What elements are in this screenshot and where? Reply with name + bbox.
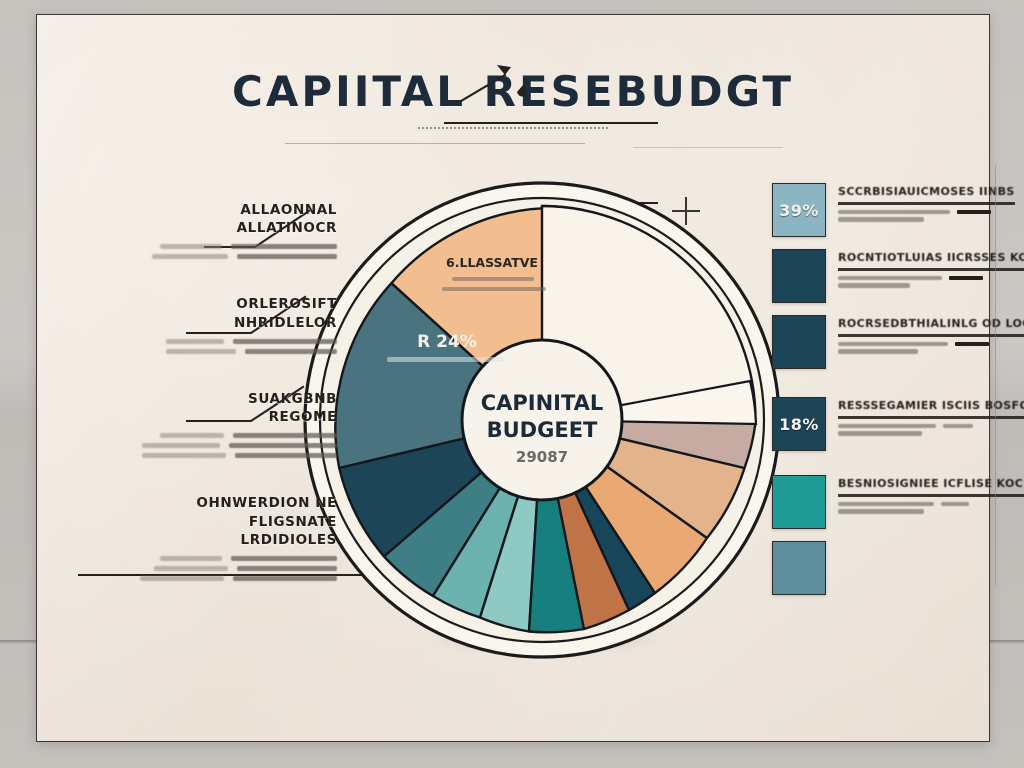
callout-title-line1: SUAKGBNB (89, 390, 337, 408)
callout-title-line2: FLIGSNATE (89, 513, 337, 531)
legend-swatch (772, 541, 826, 595)
legend-label: ROCRSEDBTHIALINLG OD LOGABS (838, 317, 1024, 330)
callout-title-line1: ALLAONNAL (89, 201, 337, 219)
slice-label-top-rule1 (452, 277, 534, 281)
callout-3[interactable]: SUAKGBNB REGOME (89, 390, 337, 458)
callout-body (89, 556, 337, 581)
callout-title-line2: ALLATINOCR (89, 219, 337, 237)
legend-item[interactable]: BESNIOSIGNIEE ICFLISE KOC OIMIAH (772, 475, 987, 529)
title-dotted-rule (418, 127, 608, 129)
legend-swatch: 39% (772, 183, 826, 237)
slice-label-top: 6.LLASSATVE (446, 255, 538, 270)
callout-title-line3: LRDIDIOLES (89, 531, 337, 549)
callout-title-line1: ORLEROSIFT (89, 295, 337, 313)
legend-divider (995, 165, 996, 585)
legend-item[interactable]: ROCRSEDBTHIALINLG OD LOGABS (772, 315, 987, 369)
legend-rule (838, 334, 1024, 337)
callout-body (89, 244, 337, 259)
legend-dash (955, 342, 989, 346)
legend-item[interactable] (772, 541, 987, 595)
legend-item[interactable]: ROCNTIOTLUIAS IICRSSES KOBIS (772, 249, 987, 303)
legend-label: RESSSEGAMIER ISCIIS BOSFOIDN (838, 399, 1024, 412)
legend-item[interactable]: 39% SCCRBISIAUICMOSES IINBS (772, 183, 987, 237)
callout-title-line1: OHNWERDION NE (89, 494, 337, 512)
callout-title: OHNWERDION NE FLIGSNATE LRDIDIOLES (89, 494, 337, 549)
donut-svg[interactable]: CAPINITAL BUDGEET 29087 R 24% 6.LLASSATV… (292, 175, 792, 665)
legend-swatch (772, 249, 826, 303)
callout-4[interactable]: OHNWERDION NE FLIGSNATE LRDIDIOLES (89, 494, 337, 581)
legend[interactable]: 39% SCCRBISIAUICMOSES IINBS ROCNTIOTLUIA… (772, 183, 987, 607)
title-rule-right (633, 147, 783, 148)
title-rule-left (285, 143, 585, 144)
legend-rule (838, 416, 1024, 419)
callout-title: SUAKGBNB REGOME (89, 390, 337, 426)
screenshot-root: CAPIITAL RESEBUDGT (0, 0, 1024, 768)
callout-title: ORLEROSIFT NHRIDLELOR (89, 295, 337, 331)
slice-label-top-rule2 (442, 287, 546, 291)
slice-label-underline (387, 357, 505, 362)
callout-1[interactable]: ALLAONNAL ALLATINOCR (89, 201, 337, 259)
callout-body (89, 433, 337, 458)
page-title: CAPIITAL RESEBUDGT (37, 67, 989, 116)
pie-chart[interactable]: CAPINITAL BUDGEET 29087 R 24% 6.LLASSATV… (292, 175, 792, 665)
legend-swatch: 18% (772, 397, 826, 451)
legend-dash (949, 276, 983, 280)
callout-2[interactable]: ORLEROSIFT NHRIDLELOR (89, 295, 337, 353)
callout-title-line2: REGOME (89, 408, 337, 426)
legend-rule (838, 494, 1024, 497)
legend-swatch (772, 475, 826, 529)
legend-item[interactable]: 18% RESSSEGAMIER ISCIIS BOSFOIDN (772, 397, 987, 451)
callout-title-line2: NHRIDLELOR (89, 314, 337, 332)
legend-label: BESNIOSIGNIEE ICFLISE KOC OIMIAH (838, 477, 1024, 490)
center-label-line2: BUDGEET (487, 418, 598, 442)
legend-dash (957, 210, 991, 214)
poster-panel: CAPIITAL RESEBUDGT (36, 14, 990, 742)
callout-body (89, 339, 337, 354)
slice-label-percent: R 24% (417, 332, 477, 352)
legend-rule (838, 268, 1024, 271)
legend-label: ROCNTIOTLUIAS IICRSSES KOBIS (838, 251, 1024, 264)
legend-rule (838, 202, 1015, 205)
callouts-left: ALLAONNAL ALLATINOCR ORLEROSIFT NHRIDLEL… (89, 201, 337, 617)
callout-title: ALLAONNAL ALLATINOCR (89, 201, 337, 237)
legend-swatch (772, 315, 826, 369)
center-label-line1: CAPINITAL (481, 391, 604, 415)
legend-label: SCCRBISIAUICMOSES IINBS (838, 185, 1015, 198)
center-label-value: 29087 (516, 448, 568, 466)
